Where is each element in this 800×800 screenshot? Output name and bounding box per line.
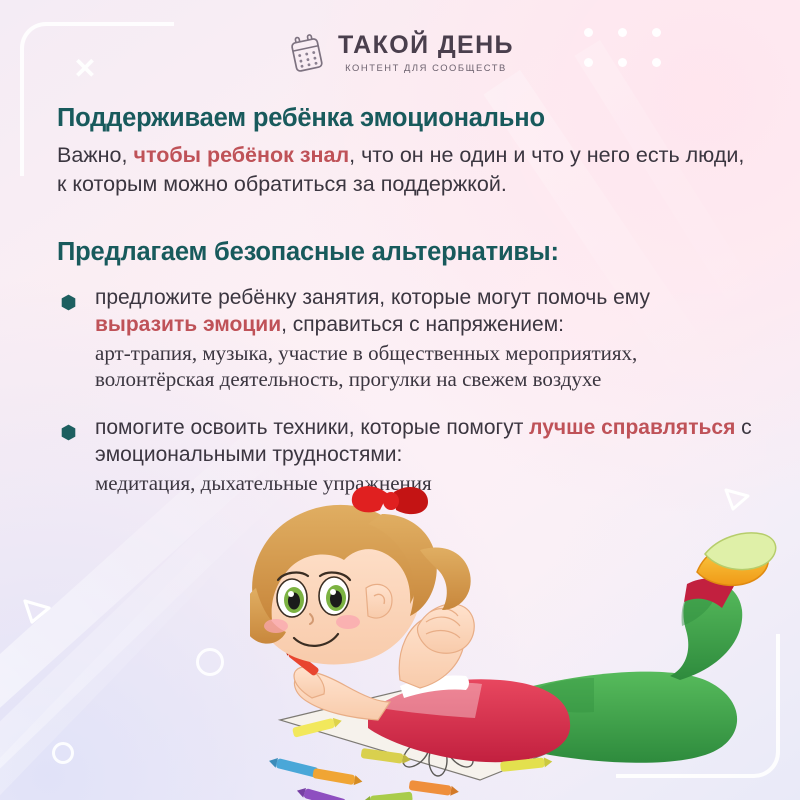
girl-shoes (697, 533, 776, 585)
paragraph-text-before: Важно, (57, 143, 133, 167)
bullet-main-text: предложите ребёнку занятия, которые могу… (95, 285, 757, 338)
bullet-text-before: помогите освоить техники, которые помогу… (95, 416, 529, 439)
brand-logo: ТАКОЙ ДЕНЬ КОНТЕНТ ДЛЯ СООБЩЕСТВ (0, 32, 800, 74)
alternatives-list: предложите ребёнку занятия, которые могу… (57, 285, 757, 496)
bullet-highlight: выразить эмоции (95, 313, 281, 336)
brand-name: ТАКОЙ ДЕНЬ (338, 33, 514, 58)
content-area: Поддерживаем ребёнка эмоционально Важно,… (57, 104, 757, 518)
brand-tagline: КОНТЕНТ ДЛЯ СООБЩЕСТВ (345, 62, 507, 73)
paragraph-highlight: чтобы ребёнок знал (133, 143, 349, 167)
bullet-main-text: помогите освоить техники, которые помогу… (95, 415, 757, 468)
circle-outline-decoration (196, 648, 224, 676)
hexagon-bullet-icon (60, 294, 77, 311)
infographic-card: ✕ (0, 0, 800, 800)
bullet-text-before: предложите ребёнку занятия, которые могу… (95, 286, 650, 309)
hair-bow (352, 486, 428, 514)
circle-outline-decoration (52, 742, 74, 764)
hexagon-bullet-icon (60, 424, 77, 441)
bullet-sub-text: арт-трапия, музыка, участие в общественн… (95, 340, 757, 394)
section-heading-2: Предлагаем безопасные альтернативы: (57, 238, 757, 267)
bullet-text-after: , справиться с напряжением: (281, 313, 564, 336)
list-item: предложите ребёнку занятия, которые могу… (57, 285, 757, 393)
girl-drawing-flower-illustration (250, 480, 800, 800)
section-heading-1: Поддерживаем ребёнка эмоционально (57, 104, 757, 133)
calendar-icon (286, 32, 328, 74)
section-paragraph-1: Важно, чтобы ребёнок знал, что он не оди… (57, 141, 757, 198)
bullet-highlight: лучше справляться (529, 416, 735, 439)
